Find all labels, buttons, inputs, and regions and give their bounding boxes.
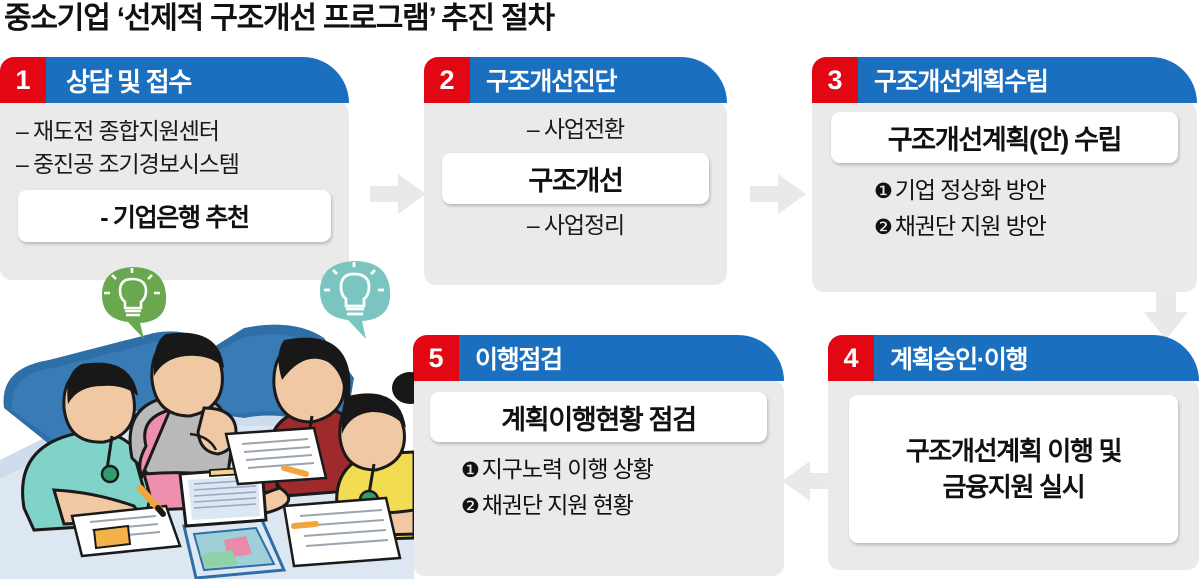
step-4-number-badge: 4: [828, 335, 874, 381]
step-5-item-1-marker: ❶: [461, 459, 479, 482]
step-card-5[interactable]: 5 이행점검 계획이행현황 점검 ❶지구노력 이행 상황 ❷채권단 지원 현황: [413, 335, 784, 576]
step-3-item-1-label: 기업 정상화 방안: [895, 177, 1046, 203]
notebook-right: [284, 498, 400, 566]
step-5-item-2: ❷채권단 지원 현황: [461, 488, 784, 524]
notebook-center: [226, 428, 326, 484]
step-4-highlight-line-2: 금융지원 실시: [906, 469, 1121, 505]
step-5-heading: 이행점검: [459, 335, 784, 381]
step-2-body: – 사업전환 구조개선 – 사업정리: [424, 102, 727, 285]
step-3-header: 3 구조개선계획수립: [812, 57, 1197, 103]
step-5-item-list: ❶지구노력 이행 상황 ❷채권단 지원 현황: [413, 452, 784, 524]
idea-bubble-green: [98, 267, 174, 341]
step-1-highlight-box[interactable]: - 기업은행 추천: [18, 190, 331, 242]
step-5-number-badge: 5: [413, 335, 459, 381]
step-3-item-list: ❶기업 정상화 방안 ❷채권단 지원 방안: [812, 173, 1197, 245]
step-card-4[interactable]: 4 계획승인·이행 구조개선계획 이행 및 금융지원 실시: [828, 335, 1199, 570]
step-card-2[interactable]: 2 구조개선진단 – 사업전환 구조개선 – 사업정리: [424, 57, 727, 285]
step-card-1[interactable]: 1 상담 및 접수 – 재도전 종합지원센터 – 중진공 조기경보시스템 - 기…: [0, 57, 349, 280]
step-5-item-2-marker: ❷: [461, 495, 479, 518]
step-3-item-2-label: 채권단 지원 방안: [895, 213, 1046, 239]
step-3-number-badge: 3: [812, 57, 858, 103]
step-5-body: 계획이행현황 점검 ❶지구노력 이행 상황 ❷채권단 지원 현황: [413, 380, 784, 576]
step-2-line-top: – 사업전환: [424, 113, 727, 146]
arrow-step1-to-step2: [370, 172, 428, 216]
step-3-item-1-marker: ❶: [874, 180, 892, 203]
step-5-header: 5 이행점검: [413, 335, 784, 381]
arrow-step2-to-step3: [750, 172, 808, 216]
step-1-number-badge: 1: [0, 57, 46, 103]
step-2-number-badge: 2: [424, 57, 470, 103]
step-4-highlight-box[interactable]: 구조개선계획 이행 및 금융지원 실시: [849, 395, 1178, 543]
step-3-body: 구조개선계획(안) 수립 ❶기업 정상화 방안 ❷채권단 지원 방안: [812, 102, 1197, 292]
step-3-item-1: ❶기업 정상화 방안: [874, 173, 1197, 209]
step-1-heading: 상담 및 접수: [46, 57, 349, 103]
step-2-header: 2 구조개선진단: [424, 57, 727, 103]
step-5-highlight-box[interactable]: 계획이행현황 점검: [430, 392, 767, 442]
infographic-root: 중소기업 ‘선제적 구조개선 프로그램’ 추진 절차 1 상담 및 접수 – 재…: [0, 0, 1199, 579]
step-5-item-2-label: 채권단 지원 현황: [482, 492, 633, 518]
step-4-heading: 계획승인·이행: [874, 335, 1199, 381]
step-5-item-1: ❶지구노력 이행 상황: [461, 452, 784, 488]
step-2-line-bottom: – 사업정리: [424, 209, 727, 242]
step-5-item-1-label: 지구노력 이행 상황: [482, 456, 653, 482]
idea-bubble-teal: [316, 261, 398, 341]
step-3-highlight-box[interactable]: 구조개선계획(안) 수립: [831, 112, 1178, 163]
step-4-body: 구조개선계획 이행 및 금융지원 실시: [828, 380, 1199, 570]
step-1-header: 1 상담 및 접수: [0, 57, 349, 103]
step-2-highlight-box[interactable]: 구조개선: [442, 153, 709, 204]
step-1-line-2: – 중진공 조기경보시스템: [16, 148, 349, 181]
step-4-header: 4 계획승인·이행: [828, 335, 1199, 381]
step-card-3[interactable]: 3 구조개선계획수립 구조개선계획(안) 수립 ❶기업 정상화 방안 ❷채권단 …: [812, 57, 1197, 292]
step-1-line-1: – 재도전 종합지원센터: [16, 115, 349, 148]
step-3-item-2-marker: ❷: [874, 216, 892, 239]
step-1-body: – 재도전 종합지원센터 – 중진공 조기경보시스템 - 기업은행 추천: [0, 102, 349, 280]
step-2-heading: 구조개선진단: [470, 57, 727, 103]
page-title: 중소기업 ‘선제적 구조개선 프로그램’ 추진 절차: [4, 0, 554, 40]
step-4-highlight-line-1: 구조개선계획 이행 및: [906, 433, 1121, 469]
step-3-item-2: ❷채권단 지원 방안: [874, 209, 1197, 245]
step-3-heading: 구조개선계획수립: [858, 57, 1197, 103]
